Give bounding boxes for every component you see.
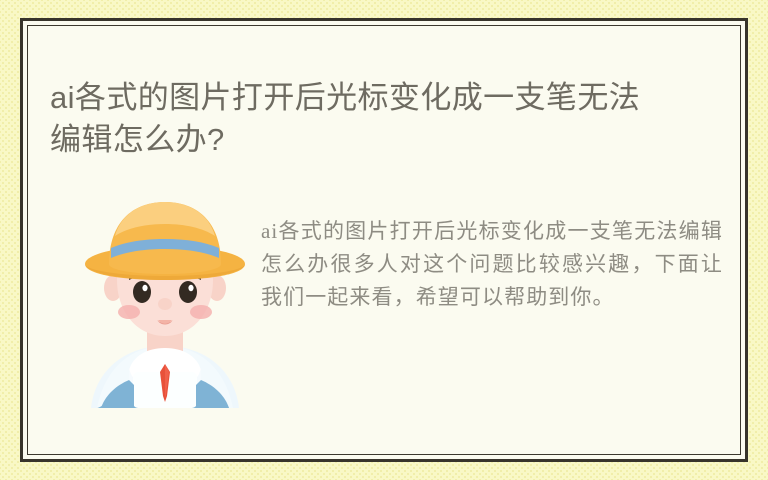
cartoon-boy-avatar bbox=[71, 196, 259, 408]
hat-shape bbox=[85, 202, 245, 280]
article-body-text: ai各式的图片打开后光标变化成一支笔无法编辑怎么办很多人对这个问题比较感兴趣，下… bbox=[261, 215, 723, 314]
article-frame-inner: ai各式的图片打开后光标变化成一支笔无法编辑怎么办? bbox=[27, 25, 741, 455]
article-frame-outer: ai各式的图片打开后光标变化成一支笔无法编辑怎么办? bbox=[20, 18, 748, 462]
page-title: ai各式的图片打开后光标变化成一支笔无法编辑怎么办? bbox=[50, 77, 650, 161]
page-wallpaper: ai各式的图片打开后光标变化成一支笔无法编辑怎么办? bbox=[0, 0, 768, 480]
article-panel: ai各式的图片打开后光标变化成一支笔无法编辑怎么办? bbox=[28, 26, 740, 454]
